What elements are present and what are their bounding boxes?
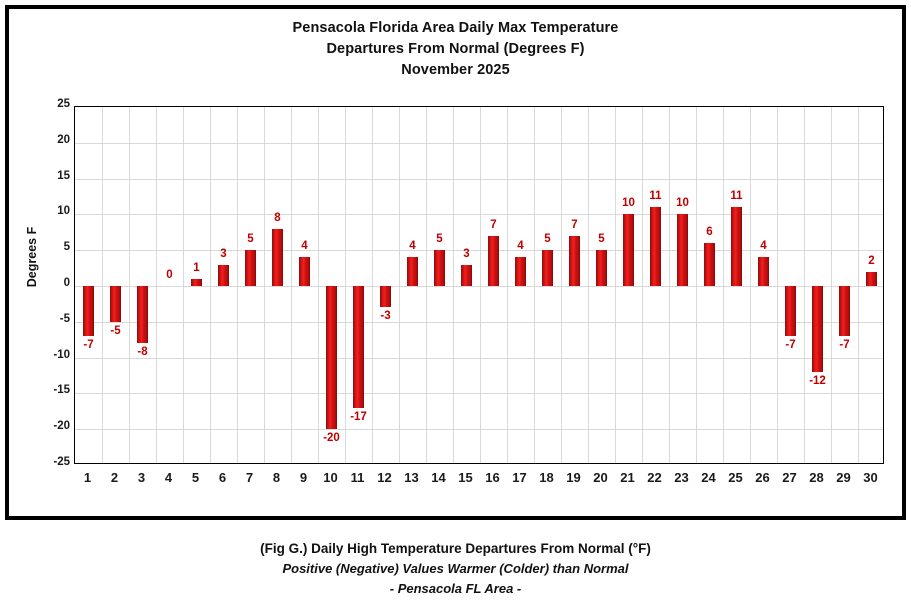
- horizontal-gridline: [75, 358, 883, 359]
- vertical-gridline: [507, 107, 508, 463]
- bar-value-label: -7: [74, 339, 109, 351]
- bar-value-label: -12: [798, 375, 838, 387]
- bar: [110, 286, 121, 322]
- bar-value-label: 3: [204, 248, 244, 260]
- y-axis-tick-labels: 2520151050-5-10-15-20-25: [16, 106, 70, 464]
- y-axis-tick-label: -5: [26, 313, 70, 325]
- vertical-gridline: [237, 107, 238, 463]
- figure-container: Pensacola Florida Area Daily Max Tempera…: [0, 0, 911, 607]
- horizontal-gridline: [75, 143, 883, 144]
- vertical-gridline: [723, 107, 724, 463]
- y-axis-tick-label: 0: [26, 277, 70, 289]
- bar-value-label: 6: [690, 226, 730, 238]
- bar-value-label: -8: [123, 346, 163, 358]
- bar-value-label: -7: [825, 339, 865, 351]
- bar-value-label: -3: [366, 310, 406, 322]
- bar-value-label: 7: [555, 219, 595, 231]
- vertical-gridline: [345, 107, 346, 463]
- bar: [272, 229, 283, 286]
- bar-value-label: 11: [717, 190, 757, 202]
- bar-value-label: 1: [177, 262, 217, 274]
- plot-area: -7-5-8013584-20-17-3453745751011106114-7…: [74, 106, 884, 464]
- vertical-gridline: [129, 107, 130, 463]
- vertical-gridline: [858, 107, 859, 463]
- bar: [812, 286, 823, 372]
- y-axis-tick-label: -20: [26, 420, 70, 432]
- figure-caption: (Fig G.) Daily High Temperature Departur…: [0, 538, 911, 599]
- bar: [866, 272, 877, 286]
- bar-value-label: 8: [258, 212, 298, 224]
- vertical-gridline: [453, 107, 454, 463]
- bar: [704, 243, 715, 286]
- vertical-gridline: [318, 107, 319, 463]
- bar-value-label: 10: [663, 197, 703, 209]
- bar-value-label: 2: [852, 255, 885, 267]
- bar: [380, 286, 391, 307]
- vertical-gridline: [291, 107, 292, 463]
- horizontal-gridline: [75, 429, 883, 430]
- chart-title-line-1: Pensacola Florida Area Daily Max Tempera…: [0, 18, 911, 39]
- bar: [839, 286, 850, 336]
- vertical-gridline: [264, 107, 265, 463]
- bar-value-label: 5: [582, 233, 622, 245]
- vertical-gridline: [183, 107, 184, 463]
- bar-value-label: 5: [528, 233, 568, 245]
- horizontal-gridline: [75, 214, 883, 215]
- bar: [326, 286, 337, 429]
- vertical-gridline: [426, 107, 427, 463]
- vertical-gridline: [399, 107, 400, 463]
- bar: [623, 214, 634, 286]
- vertical-gridline: [750, 107, 751, 463]
- vertical-gridline: [669, 107, 670, 463]
- bar: [650, 207, 661, 286]
- bar: [677, 214, 688, 286]
- horizontal-gridline: [75, 322, 883, 323]
- vertical-gridline: [588, 107, 589, 463]
- horizontal-gridline: [75, 393, 883, 394]
- bar-value-label: -17: [339, 411, 379, 423]
- bar: [488, 236, 499, 286]
- vertical-gridline: [831, 107, 832, 463]
- bar-value-label: 7: [474, 219, 514, 231]
- bar: [785, 286, 796, 336]
- x-axis-tick-labels: 1234567891011121314151617181920212223242…: [74, 470, 884, 494]
- y-axis-tick-label: 15: [26, 170, 70, 182]
- bar: [542, 250, 553, 286]
- y-axis-tick-label: 10: [26, 205, 70, 217]
- chart-title-line-2: Departures From Normal (Degrees F): [0, 39, 911, 60]
- bar: [407, 257, 418, 286]
- bar-value-label: -7: [771, 339, 811, 351]
- bar: [218, 265, 229, 286]
- vertical-gridline: [696, 107, 697, 463]
- y-axis-tick-label: -10: [26, 349, 70, 361]
- bar-value-label: 5: [420, 233, 460, 245]
- y-axis-tick-label: 5: [26, 241, 70, 253]
- vertical-gridline: [480, 107, 481, 463]
- chart-title-line-3: November 2025: [0, 60, 911, 81]
- y-axis-tick-label: 20: [26, 134, 70, 146]
- x-axis-tick-label: 30: [851, 470, 891, 485]
- bar-value-label: 4: [744, 240, 784, 252]
- vertical-gridline: [615, 107, 616, 463]
- vertical-gridline: [777, 107, 778, 463]
- bar: [569, 236, 580, 286]
- bar-value-label: 4: [285, 240, 325, 252]
- bar: [596, 250, 607, 286]
- horizontal-gridline: [75, 286, 883, 287]
- caption-line-2: Positive (Negative) Values Warmer (Colde…: [0, 559, 911, 579]
- vertical-gridline: [102, 107, 103, 463]
- bar: [353, 286, 364, 408]
- vertical-gridline: [804, 107, 805, 463]
- bar: [461, 265, 472, 286]
- horizontal-gridline: [75, 179, 883, 180]
- bar-value-label: 5: [231, 233, 271, 245]
- vertical-gridline: [534, 107, 535, 463]
- vertical-gridline: [642, 107, 643, 463]
- bar: [83, 286, 94, 336]
- bar-value-label: -20: [312, 432, 352, 444]
- bar: [758, 257, 769, 286]
- bar: [299, 257, 310, 286]
- y-axis-tick-label: -25: [26, 456, 70, 468]
- chart-title: Pensacola Florida Area Daily Max Tempera…: [0, 18, 911, 81]
- bar-value-label: 3: [447, 248, 487, 260]
- bar: [245, 250, 256, 286]
- vertical-gridline: [210, 107, 211, 463]
- y-axis-tick-label: 25: [26, 98, 70, 110]
- bar-value-label: -5: [96, 325, 136, 337]
- vertical-gridline: [156, 107, 157, 463]
- vertical-gridline: [372, 107, 373, 463]
- bar: [137, 286, 148, 343]
- caption-line-1: (Fig G.) Daily High Temperature Departur…: [0, 538, 911, 559]
- vertical-gridline: [561, 107, 562, 463]
- bar: [515, 257, 526, 286]
- bar: [191, 279, 202, 286]
- bar: [731, 207, 742, 286]
- bar: [434, 250, 445, 286]
- y-axis-tick-label: -15: [26, 384, 70, 396]
- caption-line-3: - Pensacola FL Area -: [0, 579, 911, 599]
